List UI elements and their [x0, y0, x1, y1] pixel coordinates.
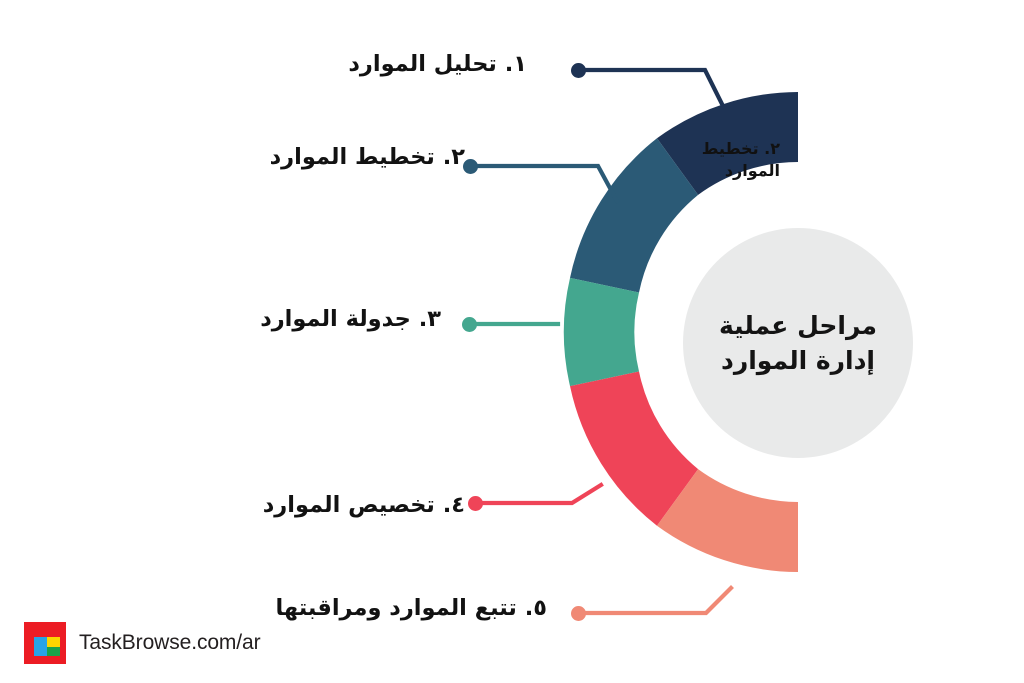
leader-dot-2[interactable] — [463, 159, 478, 174]
center-title-line-2: إدارة الموارد — [721, 343, 875, 379]
leader-dot-3[interactable] — [462, 317, 477, 332]
step-label-5[interactable]: ٥. تتبع الموارد ومراقبتها — [275, 597, 547, 620]
step-label-4[interactable]: ٤. تخصيص الموارد — [263, 494, 465, 517]
infographic-canvas: مراحل عملية إدارة الموارد ٢. تخطيط الموا… — [0, 0, 1024, 683]
step-label-1[interactable]: ١. تحليل الموارد — [348, 53, 527, 76]
leader-dot-4[interactable] — [468, 496, 483, 511]
step-label-2[interactable]: ٢. تخطيط الموارد — [270, 146, 465, 169]
leader-line-5 — [578, 588, 731, 613]
leader-dot-5[interactable] — [571, 606, 586, 621]
arc-inner-label-line-2: الموارد — [676, 160, 780, 182]
arc-inner-label-line-1: ٢. تخطيط — [676, 138, 780, 160]
leader-dot-1[interactable] — [571, 63, 586, 78]
center-title-line-1: مراحل عملية — [719, 308, 877, 344]
step-label-3[interactable]: ٣. جدولة الموارد — [260, 308, 441, 331]
footer: TaskBrowse.com/ar — [24, 622, 261, 664]
donut-segment-3[interactable] — [564, 278, 639, 386]
logo-square-green — [47, 647, 60, 656]
arc-inner-label-step-2: ٢. تخطيط الموارد — [676, 138, 780, 182]
logo-square-yellow — [47, 637, 60, 647]
brand-name: TaskBrowse.com/ar — [79, 631, 261, 655]
logo-square-blue — [34, 637, 47, 656]
brand-logo-icon — [24, 622, 66, 664]
center-hub: مراحل عملية إدارة الموارد — [683, 228, 913, 458]
